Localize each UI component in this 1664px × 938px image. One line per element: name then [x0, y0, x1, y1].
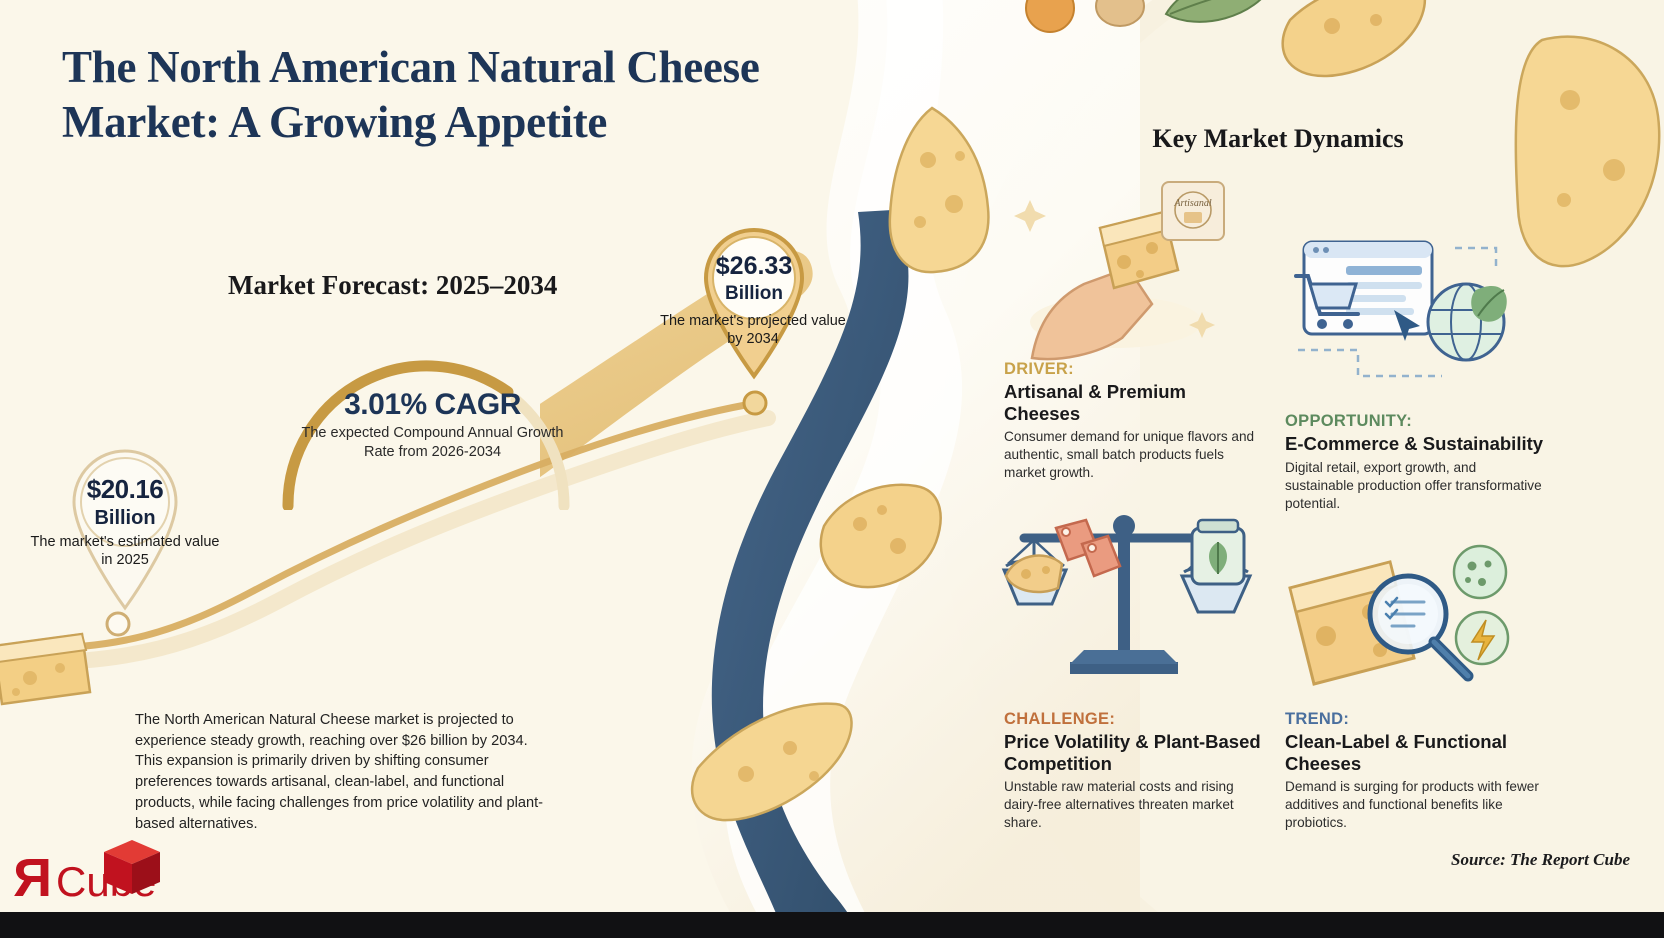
- orange-fruit-icon: [1020, 0, 1080, 40]
- report-cube-logo: R Cube: [8, 832, 188, 910]
- end-value-caption: The market's projected value by 2034: [658, 312, 848, 348]
- start-value-amount: $20.16: [87, 474, 164, 504]
- probiotics-icon: [1454, 546, 1506, 598]
- nut-icon: [1090, 0, 1150, 38]
- hand-holding-cheese-icon: Artisanal: [1012, 172, 1228, 362]
- infographic-canvas: The North American Natural Cheese Market…: [0, 0, 1664, 938]
- page-title: The North American Natural Cheese Market…: [62, 40, 902, 150]
- challenge-kicker: CHALLENGE:: [1004, 710, 1266, 730]
- challenge-body: Unstable raw material costs and rising d…: [1004, 778, 1266, 832]
- curve-end-node: [744, 392, 766, 414]
- sparkle-icon: [1014, 200, 1046, 232]
- scale-pan-left: [1004, 520, 1120, 604]
- artisanal-badge: Artisanal: [1162, 182, 1224, 240]
- cagr-description: The expected Compound Annual Growth Rate…: [300, 424, 565, 461]
- driver-body: Consumer demand for unique flavors and a…: [1004, 428, 1266, 482]
- balance-scale-icon: [1000, 500, 1256, 706]
- opportunity-body: Digital retail, export growth, and susta…: [1285, 459, 1547, 513]
- quadrant-challenge: CHALLENGE: Price Volatility & Plant-Base…: [1004, 710, 1266, 832]
- dynamics-heading: Key Market Dynamics: [1108, 124, 1448, 154]
- source-credit: Source: The Report Cube: [1451, 850, 1630, 870]
- cagr-value: 3.01% CAGR: [300, 388, 565, 421]
- quadrant-trend: TREND: Clean-Label & Functional Cheeses …: [1285, 710, 1547, 832]
- trend-body: Demand is surging for products with fewe…: [1285, 778, 1547, 832]
- start-value-caption: The market's estimated value in 2025: [30, 533, 220, 569]
- bottom-bar: [0, 912, 1664, 938]
- price-tag-icon: [1056, 520, 1120, 576]
- leaf-icon: [1160, 0, 1280, 38]
- quadrant-driver: DRIVER: Artisanal & Premium Cheeses Cons…: [1004, 360, 1266, 482]
- trend-headline: Clean-Label & Functional Cheeses: [1285, 731, 1547, 775]
- opportunity-headline: E-Commerce & Sustainability: [1285, 433, 1547, 455]
- scale-post: [1118, 530, 1130, 662]
- globe-leaf-icon: [1428, 284, 1507, 360]
- summary-paragraph: The North American Natural Cheese market…: [135, 710, 547, 834]
- start-value-pin: $20.16 Billion: [58, 432, 192, 612]
- driver-headline: Artisanal & Premium Cheeses: [1004, 381, 1266, 425]
- scale-pan-right: [1182, 520, 1250, 612]
- online-shopping-globe-icon: [1290, 232, 1514, 408]
- cagr-block: 3.01% CAGR The expected Compound Annual …: [300, 388, 565, 461]
- start-value-unit: Billion: [94, 507, 155, 529]
- cheese-wedge-icon: [1514, 30, 1664, 280]
- trend-kicker: TREND:: [1285, 710, 1547, 730]
- opportunity-kicker: OPPORTUNITY:: [1285, 412, 1547, 432]
- cheese-wedge-icon: [812, 470, 952, 600]
- driver-kicker: DRIVER:: [1004, 360, 1266, 380]
- curve-start-node: [107, 613, 129, 635]
- cheese-wedge-icon: [0, 600, 110, 720]
- end-value-unit: Billion: [725, 283, 783, 304]
- challenge-headline: Price Volatility & Plant-Based Competiti…: [1004, 731, 1266, 775]
- end-value-amount: $26.33: [716, 252, 792, 280]
- energy-bolt-icon: [1456, 612, 1508, 664]
- cheese-wedge-icon: [690, 690, 860, 830]
- svg-text:Artisanal: Artisanal: [1173, 198, 1211, 209]
- quadrant-opportunity: OPPORTUNITY: E-Commerce & Sustainability…: [1285, 412, 1547, 512]
- cheese-wedge-icon: [1280, 0, 1430, 110]
- end-value-pin: $26.33 Billion: [692, 212, 816, 380]
- cheese-magnifier-icon: [1284, 540, 1520, 712]
- logo-reversed-r: R: [13, 848, 52, 908]
- forecast-heading: Market Forecast: 2025–2034: [228, 270, 557, 301]
